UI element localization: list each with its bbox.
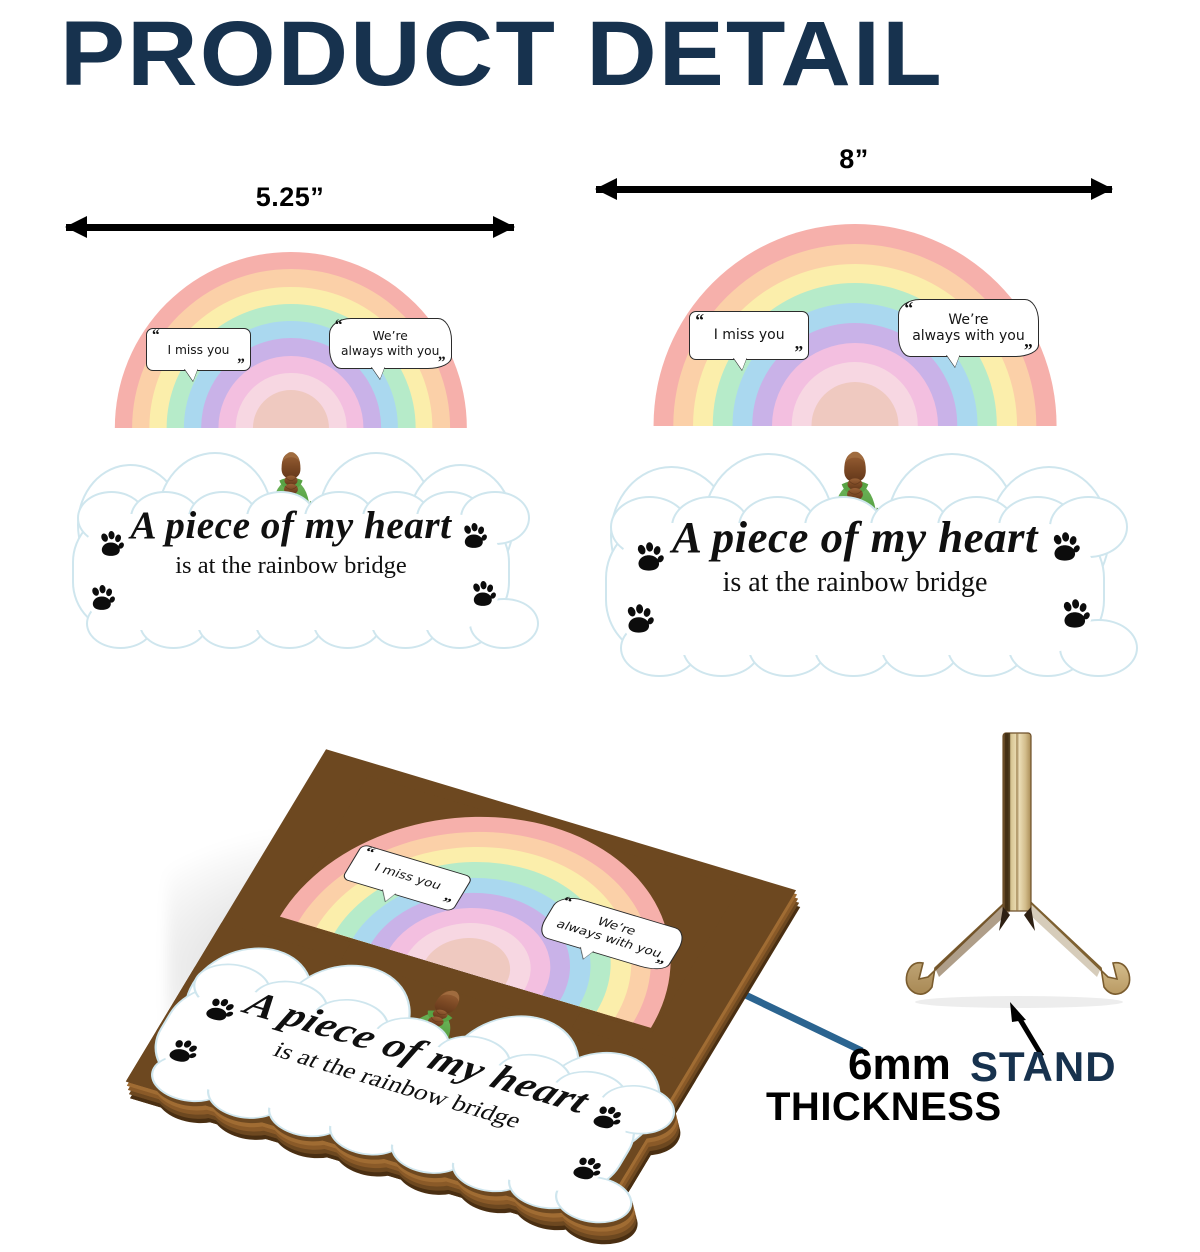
- quote-block: A piece of my heartis at the rainbow bri…: [68, 503, 514, 580]
- paw-print-icon: [97, 530, 125, 563]
- dimension-label-large: 8”: [596, 144, 1112, 175]
- paw-print-icon: [1049, 531, 1081, 568]
- arrow-left-icon: [65, 216, 87, 238]
- quote-line-2: is at the rainbow bridge: [600, 567, 1110, 599]
- paw-print-icon: [88, 584, 116, 617]
- dimension-width-small: 5.25”: [66, 190, 514, 236]
- speech-text: I miss you: [167, 343, 229, 357]
- page-title: PRODUCT DETAIL: [60, 8, 944, 100]
- bubble-tail: [371, 366, 385, 379]
- quote-line-1: A piece of my heart: [68, 503, 514, 548]
- product-preview-large: JanetMonaAlvin“I miss you”“We’realways w…: [600, 208, 1110, 670]
- paw-print-icon: [460, 522, 488, 555]
- plaque-face-3d: JanetMonaAlvin“I miss you”“We’realways w…: [175, 800, 815, 1140]
- bubble-tail: [733, 357, 747, 370]
- paw-print-icon: [88, 584, 116, 612]
- bubble-tail: [184, 368, 198, 381]
- dimension-label-small: 5.25”: [66, 182, 514, 213]
- product-stand: [895, 725, 1135, 1010]
- dimension-width-large: 8”: [596, 152, 1112, 198]
- paw-print-icon: [460, 522, 488, 550]
- speech-bubble-left: “I miss you”: [146, 328, 251, 371]
- quote-open: “: [904, 298, 913, 318]
- speech-text: We’realways with you: [912, 312, 1025, 346]
- quote-open: “: [152, 327, 160, 345]
- quote-line-1: A piece of my heart: [600, 511, 1110, 563]
- quote-block: A piece of my heartis at the rainbow bri…: [600, 511, 1110, 599]
- product-preview-small: JanetMonaAlvin“I miss you”“We’realways w…: [68, 238, 514, 643]
- quote-open: “: [360, 845, 377, 862]
- speech-bubble-right: “We’realways with you”: [329, 318, 452, 369]
- paw-print-icon: [1049, 531, 1081, 563]
- arrow-right-icon: [493, 216, 515, 238]
- arrow-right-icon: [1091, 178, 1113, 200]
- paw-print-icon: [633, 541, 665, 578]
- paw-print-icon: [623, 603, 655, 640]
- dimension-line-small: [66, 224, 514, 231]
- product-detail-page: PRODUCT DETAIL 5.25” 8” JanetMonaAlvin“I…: [0, 0, 1200, 1200]
- quote-line-2: is at the rainbow bridge: [68, 552, 514, 580]
- paw-print-icon: [97, 530, 125, 558]
- speech-bubble-right: “We’realways with you”: [898, 299, 1038, 357]
- dimension-line-large: [596, 186, 1112, 193]
- speech-text: I miss you: [714, 327, 785, 343]
- paw-print-icon: [633, 541, 665, 573]
- arrow-left-icon: [595, 178, 617, 200]
- quote-open: “: [695, 310, 704, 330]
- quote-close: ”: [794, 342, 803, 362]
- product-preview-3d: JanetMonaAlvin“I miss you”“We’realways w…: [175, 800, 815, 1140]
- quote-open: “: [335, 317, 343, 335]
- speech-text: We’realways with you: [341, 329, 439, 358]
- stand-label: STAND: [970, 1043, 1117, 1091]
- quote-close: ”: [438, 354, 446, 372]
- paw-print-icon: [1059, 598, 1091, 635]
- thickness-value: 6mm: [848, 1040, 951, 1090]
- speech-bubble-left: “I miss you”: [689, 311, 809, 360]
- paw-print-icon: [1059, 598, 1091, 630]
- quote-close: ”: [1024, 340, 1033, 360]
- quote-close: ”: [437, 895, 454, 912]
- bubble-tail: [946, 354, 960, 367]
- paw-print-icon: [623, 603, 655, 635]
- paw-print-icon: [469, 580, 497, 613]
- stand-icon: [895, 725, 1135, 1010]
- quote-close: ”: [237, 356, 245, 374]
- paw-print-icon: [469, 580, 497, 608]
